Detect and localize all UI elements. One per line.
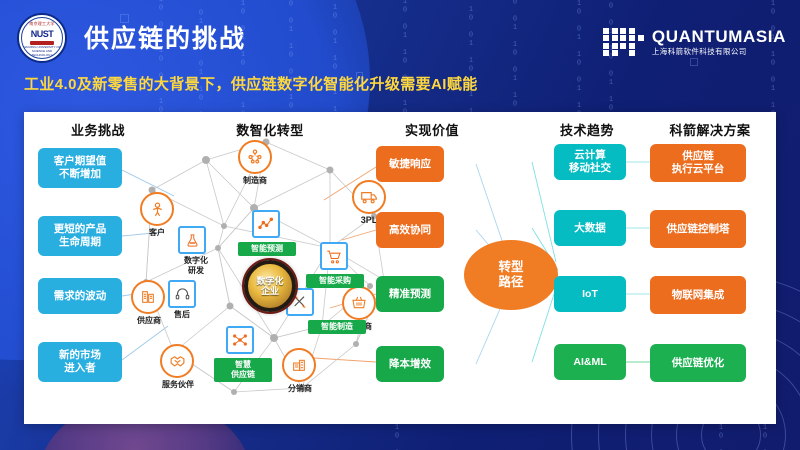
solution-box-2[interactable]: 供应链控制塔 [650, 210, 746, 248]
tech-box-1[interactable]: 云计算 移动社交 [554, 144, 626, 180]
challenge-4-line2: 进入者 [64, 362, 96, 374]
capability-tag-smart-procurement: 智能采购 [306, 274, 364, 288]
network-node-customer[interactable] [140, 192, 174, 226]
solution-1-line2: 执行云平台 [672, 163, 725, 175]
solution-box-1[interactable]: 供应链 执行云平台 [650, 144, 746, 182]
value-box-4[interactable]: 降本增效 [376, 346, 444, 382]
binary-decor-13: 10 01 10 01 10 01 10 01 10 01 10 01 [716, 424, 726, 450]
capability-tag-smart-manufacturing: 智能制造 [308, 320, 366, 334]
network-node-manufacturer[interactable] [238, 140, 272, 174]
tech-1-line1: 云计算 [574, 149, 606, 161]
network-label-distributor: 分销商 [278, 384, 322, 394]
transformation-path-hub[interactable]: 转型 路径 [464, 240, 558, 310]
challenge-1-line2: 不断增加 [59, 168, 101, 180]
value-2-label: 高效协同 [389, 224, 431, 237]
core-line1: 数字化 [256, 276, 283, 286]
challenge-1-line1: 客户期望值 [54, 155, 107, 167]
tech-1-line2: 移动社交 [569, 162, 611, 174]
tech-2-line1: 大数据 [574, 222, 606, 235]
digital-rd-line2: 研发 [188, 266, 204, 275]
value-4-label: 降本增效 [389, 358, 431, 371]
network-label-digital-rd: 数字化 研发 [170, 256, 222, 275]
network-node-service-partner[interactable] [160, 344, 194, 378]
building-icon [140, 289, 156, 305]
tech-box-2[interactable]: 大数据 [554, 210, 626, 246]
slide-header: 南京理工大学 NUST NANJING UNIVERSITY OF SCIENC… [0, 0, 800, 108]
value-box-3[interactable]: 精准预测 [376, 276, 444, 312]
chart-icon [258, 217, 274, 231]
network-node-aftersales[interactable] [168, 280, 196, 308]
brand-subtitle: 上海科箭软件科技有限公司 [652, 46, 786, 58]
network-icon [232, 332, 248, 348]
challenge-box-1[interactable]: 客户期望值 不断增加 [38, 148, 122, 188]
capability-node-smart-supply-chain[interactable] [226, 326, 254, 354]
challenge-4-line1: 新的市场 [59, 349, 101, 361]
capability-node-smart-forecast[interactable] [252, 210, 280, 238]
slide-root: 10 01 10 01 10 01 10 01 10 01 10 01 10 0… [0, 0, 800, 450]
hub-line2: 路径 [498, 275, 523, 289]
challenge-2-line1: 更短的产品 [54, 223, 107, 235]
binary-decor-14: 10 01 10 01 10 01 10 01 10 01 10 01 [760, 424, 770, 450]
challenge-box-2[interactable]: 更短的产品 生命周期 [38, 216, 122, 256]
seal-initials: NUST [29, 29, 55, 43]
value-box-2[interactable]: 高效协同 [376, 212, 444, 248]
page-title: 供应链的挑战 [84, 19, 246, 55]
network-node-retailer[interactable] [342, 286, 376, 320]
capability-tag-smart-supply-chain: 智慧 供应链 [214, 358, 272, 382]
capability-node-smart-procurement[interactable] [320, 242, 348, 270]
transformation-network-diagram: 制造商 客户 3PL 供应商 [134, 130, 404, 412]
tech-box-4[interactable]: AI&ML [554, 344, 626, 380]
headset-icon [175, 287, 190, 302]
network-node-digital-rd[interactable] [178, 226, 206, 254]
tech-4-line1: AI&ML [573, 356, 606, 369]
value-1-label: 敏捷响应 [389, 158, 431, 171]
network-node-distributor[interactable] [282, 348, 316, 382]
value-box-1[interactable]: 敏捷响应 [376, 146, 444, 182]
network-label-aftersales: 售后 [162, 310, 202, 320]
network-label-service-partner: 服务伙伴 [150, 380, 206, 390]
factory-icon [246, 148, 264, 166]
solution-1-line1: 供应链 [682, 150, 714, 162]
challenge-2-line2: 生命周期 [59, 236, 101, 248]
hub-line1: 转型 [498, 260, 523, 274]
challenge-box-3[interactable]: 需求的波动 [38, 278, 122, 314]
truck-icon [360, 189, 378, 205]
network-label-manufacturer: 制造商 [234, 176, 276, 186]
solution-3-line1: 物联网集成 [672, 289, 725, 302]
tech-3-line1: IoT [582, 288, 598, 301]
basket-icon [351, 295, 367, 311]
network-label-customer: 客户 [138, 228, 176, 238]
page-subtitle: 工业4.0及新零售的大背景下，供应链数字化智能化升级需要AI赋能 [24, 73, 478, 94]
university-seal-logo: 南京理工大学 NUST NANJING UNIVERSITY OF SCIENC… [14, 13, 70, 63]
person-icon [149, 201, 166, 218]
solution-box-4[interactable]: 供应链优化 [650, 344, 746, 382]
solution-2-line1: 供应链控制塔 [667, 223, 730, 236]
company-logo: QUANTUMASIA 上海科箭软件科技有限公司 [603, 22, 786, 62]
tools-icon [292, 294, 308, 310]
binary-decor-12: 10 01 10 01 10 01 10 01 10 01 10 01 [392, 424, 402, 450]
network-node-supplier[interactable] [131, 280, 165, 314]
logo-dot-grid-icon [603, 28, 645, 56]
challenge-3-line1: 需求的波动 [54, 290, 107, 303]
network-node-3pl[interactable] [352, 180, 386, 214]
warehouse-icon [291, 357, 307, 373]
seal-cn-text: 南京理工大学 [24, 21, 60, 27]
value-3-label: 精准预测 [389, 288, 431, 301]
flask-icon [185, 233, 200, 248]
capability-tag-smart-forecast: 智能预测 [238, 242, 296, 256]
challenge-box-4[interactable]: 新的市场 进入者 [38, 342, 122, 382]
solution-box-3[interactable]: 物联网集成 [650, 276, 746, 314]
tech-box-3[interactable]: IoT [554, 276, 626, 312]
handshake-icon [169, 353, 186, 369]
cart-icon [326, 249, 342, 264]
core-line2: 企业 [261, 286, 279, 296]
brand-name: QUANTUMASIA [652, 27, 786, 46]
seal-en-text: NANJING UNIVERSITY OF SCIENCE AND TECHNO… [22, 45, 62, 57]
digital-rd-line1: 数字化 [184, 256, 208, 265]
network-core-digital-enterprise[interactable]: 数字化 企业 [244, 260, 296, 312]
solution-4-line1: 供应链优化 [672, 357, 725, 370]
smart-sc-line1: 智慧 [235, 360, 251, 369]
smart-sc-line2: 供应链 [231, 370, 255, 379]
content-panel: 业务挑战 数智化转型 实现价值 技术趋势 科箭解决方案 [24, 112, 776, 424]
